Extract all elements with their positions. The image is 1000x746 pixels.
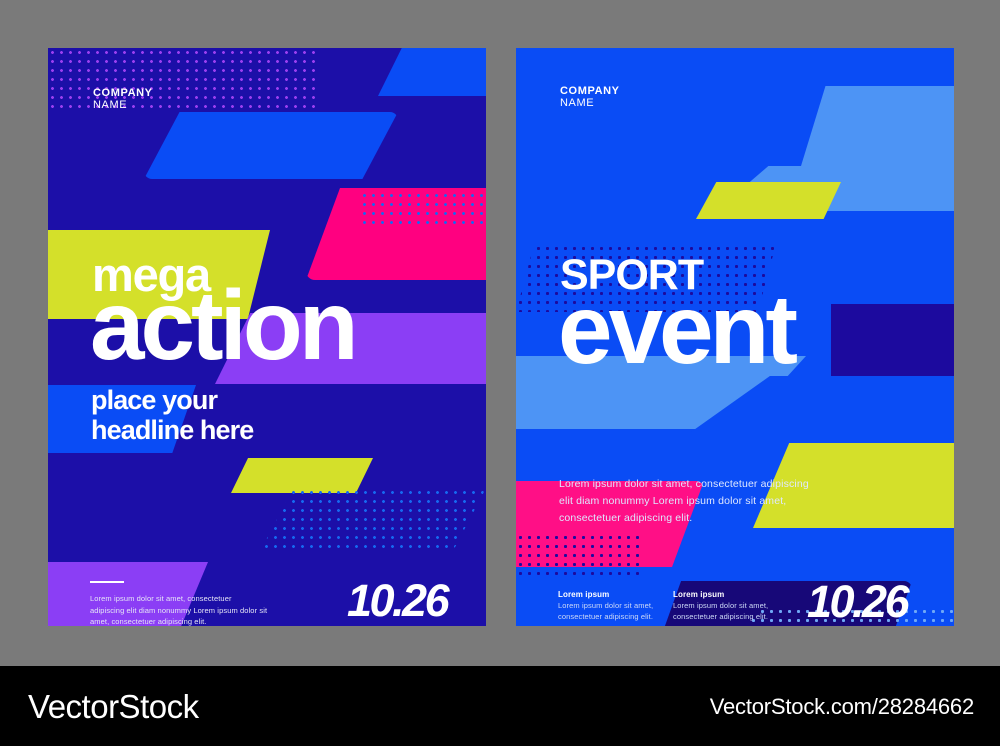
- divider-rule-left: [90, 581, 124, 583]
- shape-navy-event-band: [831, 304, 954, 376]
- dot-pattern-over-pink: [360, 191, 486, 227]
- poster-date-left: 10.26: [347, 575, 447, 626]
- shape-blue-parallelogram: [144, 112, 398, 179]
- poster-body-left: Lorem ipsum dolor sit amet, consectetuer…: [90, 593, 268, 626]
- shape-lightblue-top-right: [801, 86, 954, 166]
- info-box-2: Lorem ipsum Lorem ipsum dolor sit amet, …: [673, 590, 783, 623]
- dot-pattern-left-lower: [516, 533, 641, 581]
- company-name-block-right: COMPANY NAME: [560, 86, 620, 109]
- screenshot-canvas: COMPANY NAME mega action place your head…: [0, 0, 1000, 746]
- mega-action-poster[interactable]: COMPANY NAME mega action place your head…: [48, 48, 486, 626]
- dot-pattern-mid: [262, 488, 486, 548]
- company-name-line2-right: NAME: [560, 98, 620, 110]
- company-name-line1-right: COMPANY: [560, 86, 620, 98]
- poster-date-right: 10.26: [807, 576, 907, 626]
- poster-subhead-left-line2: headline here: [91, 415, 253, 445]
- shape-blue-top-right: [378, 48, 486, 96]
- info-box-1: Lorem ipsum Lorem ipsum dolor sit amet, …: [558, 590, 668, 623]
- info-box-2-body: Lorem ipsum dolor sit amet, consectetuer…: [673, 601, 783, 623]
- info-box-1-title: Lorem ipsum: [558, 590, 668, 599]
- shape-lime-top-parallelogram: [696, 182, 841, 219]
- company-name-block-left: COMPANY NAME: [93, 88, 153, 111]
- poster-body-right: Lorem ipsum dolor sit amet, consectetuer…: [559, 476, 809, 527]
- poster-headline-right: event: [558, 288, 794, 371]
- shape-lime-small-parallelogram: [231, 458, 373, 493]
- info-box-2-title: Lorem ipsum: [673, 590, 783, 599]
- vectorstock-url: VectorStock.com/28284662: [710, 694, 974, 720]
- dot-pattern-top-left: [48, 48, 318, 112]
- poster-subhead-left: place your headline here: [91, 385, 253, 445]
- info-box-1-body: Lorem ipsum dolor sit amet, consectetuer…: [558, 601, 668, 623]
- company-name-line1: COMPANY: [93, 88, 153, 100]
- sport-event-poster[interactable]: COMPANY NAME SPORT event Lorem ipsum dol…: [516, 48, 954, 626]
- company-name-line2: NAME: [93, 100, 153, 112]
- poster-subhead-left-line1: place your: [91, 385, 253, 415]
- vectorstock-brand: VectorStock: [28, 688, 199, 726]
- poster-headline-left: action: [90, 284, 355, 367]
- vectorstock-footer: VectorStock VectorStock.com/28284662: [0, 666, 1000, 746]
